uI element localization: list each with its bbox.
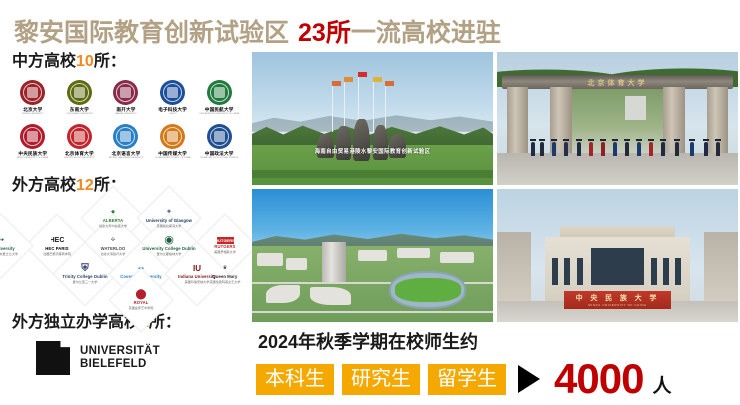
flagpole bbox=[373, 77, 374, 132]
building-window bbox=[675, 258, 681, 285]
list-item-sublabel: 澳大利亚中央昆士兰大学 bbox=[0, 253, 18, 257]
flagpole bbox=[385, 81, 386, 132]
tag-undergraduate[interactable]: 本科生 bbox=[256, 364, 334, 395]
student-count-number: 4000 bbox=[554, 358, 643, 400]
bielefeld-line2: BIELEFELD bbox=[80, 358, 160, 371]
university-logo-icon: ♛ bbox=[219, 263, 232, 274]
university-logo-icon: RUTGERS bbox=[217, 237, 234, 244]
list-item-sublabel: NANKAI UNIVERSITY bbox=[115, 112, 137, 115]
university-seal-icon bbox=[67, 124, 92, 149]
university-seal-icon bbox=[160, 80, 185, 105]
graduate-figure bbox=[675, 142, 679, 156]
title-tail-text: 一流高校进驻 bbox=[351, 13, 501, 49]
gate-inscription: 北京体育大学 bbox=[497, 78, 738, 88]
university-seal-icon bbox=[113, 124, 138, 149]
university-logo-icon: ✣ bbox=[107, 235, 120, 246]
road-layer bbox=[497, 153, 738, 185]
university-seal-icon bbox=[113, 80, 138, 105]
bielefeld-logo[interactable]: UNIVERSITÄT BIELEFELD bbox=[36, 341, 248, 375]
building-window bbox=[577, 258, 583, 285]
list-item[interactable]: 东南大学 SOUTHEAST UNIVERSITY bbox=[57, 78, 103, 122]
graduate-figure bbox=[649, 142, 653, 156]
section-foreign-count: 12 bbox=[76, 177, 94, 194]
list-item-sublabel: BEIJING LANGUAGE UNIVERSITY bbox=[109, 156, 143, 159]
list-item[interactable]: 中国传媒大学 COMMUNICATION UNIV. OF CHINA bbox=[150, 122, 196, 166]
university-seal-icon bbox=[207, 80, 232, 105]
building-window bbox=[564, 258, 570, 285]
campus-building bbox=[440, 252, 474, 264]
list-item-sublabel: UESTC bbox=[169, 112, 176, 115]
stadium-field bbox=[395, 278, 461, 302]
section-chinese-label-pre: 中方高校 bbox=[12, 53, 76, 70]
graduate-figure bbox=[661, 142, 665, 156]
graduate-figure bbox=[716, 142, 720, 156]
gate-pillar bbox=[663, 87, 685, 156]
university-logo-icon: ●● bbox=[0, 235, 8, 246]
chinese-logo-row-1: 北京大学 PEKING UNIVERSITY 东南大学 SOUTHEAST UN… bbox=[10, 78, 242, 122]
flag-icon bbox=[385, 81, 394, 86]
university-seal-icon bbox=[20, 124, 45, 149]
stats-banner: 2024年秋季学期在校师生约 本科生 研究生 留学生 4000 人 bbox=[252, 326, 738, 402]
list-item-sublabel: SOUTHEAST UNIVERSITY bbox=[66, 112, 93, 115]
photo-minzu-building[interactable]: 中 央 民 族 大 学 MINZU UNIVERSITY OF CHINA bbox=[497, 189, 738, 322]
list-item-sublabel: 英国皇家艺术学院 bbox=[129, 307, 154, 311]
flag-icon bbox=[332, 81, 341, 86]
flag-icon bbox=[373, 77, 382, 82]
list-item[interactable]: ⬤ ROYAL 英国皇家艺术学院 bbox=[118, 277, 164, 323]
photo-aerial-campus[interactable] bbox=[252, 189, 493, 322]
list-item-sublabel: 英国伦敦玛丽女王大学 bbox=[210, 281, 241, 285]
background-building bbox=[625, 96, 647, 120]
building-glass-panel bbox=[591, 248, 644, 285]
building-window bbox=[552, 258, 558, 285]
list-item-sublabel: BEIJING SPORT UNIVERSITY bbox=[64, 156, 94, 159]
campus-tower bbox=[322, 242, 346, 282]
list-item[interactable]: 北京大学 PEKING UNIVERSITY bbox=[10, 78, 56, 122]
left-column: 中方高校10所： 北京大学 PEKING UNIVERSITY 东南大学 SOU… bbox=[0, 52, 248, 405]
graduate-figure bbox=[704, 142, 708, 156]
graduate-figure bbox=[625, 142, 629, 156]
photo-monument[interactable]: 海南自由贸易港陵水黎安国际教育创新试验区 bbox=[252, 52, 493, 185]
graduate-figure bbox=[577, 142, 581, 156]
play-triangle-icon bbox=[518, 365, 540, 393]
campus-building bbox=[257, 253, 284, 266]
list-item-sublabel: CHINA UNIV. OF POLITICAL SCIENCE bbox=[200, 156, 238, 159]
flag-red-icon bbox=[358, 72, 367, 77]
list-item-sublabel: CIVIL AVIATION UNIVERSITY OF CHINA bbox=[199, 112, 239, 115]
campus-building bbox=[310, 287, 351, 304]
university-logo-icon: ⬤ bbox=[135, 289, 148, 300]
graduate-figure bbox=[601, 142, 605, 156]
list-item[interactable]: ⛨ Trinity College Dublin 爱尔兰圣三一大学 bbox=[62, 251, 108, 297]
campus-building bbox=[358, 250, 387, 261]
university-logo-icon: ❖ bbox=[163, 207, 176, 218]
infographic-slide: 黎安国际教育创新试验区 23所 一流高校进驻 中方高校10所： 北京大学 PEK… bbox=[0, 0, 740, 405]
graduate-figure bbox=[589, 142, 593, 156]
list-item-sublabel: 爱尔兰圣三一大学 bbox=[73, 281, 98, 285]
graduate-figure bbox=[637, 142, 641, 156]
tag-international[interactable]: 留学生 bbox=[428, 364, 506, 395]
stadium bbox=[389, 271, 466, 308]
list-item[interactable]: 南开大学 NANKAI UNIVERSITY bbox=[103, 78, 149, 122]
university-seal-icon bbox=[67, 80, 92, 105]
university-seal-icon bbox=[20, 80, 45, 105]
section-chinese-count: 10 bbox=[76, 53, 94, 70]
flagpole bbox=[332, 81, 333, 132]
banner-row: 本科生 研究生 留学生 4000 人 bbox=[256, 358, 738, 400]
graduate-figure bbox=[552, 142, 556, 156]
list-item[interactable]: ♛ Queen Mary 英国伦敦玛丽女王大学 bbox=[202, 251, 248, 297]
university-logo-icon: ◆ bbox=[107, 207, 120, 218]
section-header-foreign: 外方高校12所： bbox=[12, 176, 248, 196]
list-item-sublabel: MINZU UNIVERSITY OF CHINA bbox=[17, 156, 48, 159]
building-window bbox=[651, 258, 657, 285]
sign-english-text: MINZU UNIVERSITY OF CHINA bbox=[588, 303, 646, 307]
hedge-layer bbox=[252, 170, 493, 178]
list-item[interactable]: 电子科技大学 UESTC bbox=[150, 78, 196, 122]
section-header-chinese: 中方高校10所： bbox=[12, 52, 248, 72]
side-building-left bbox=[497, 232, 531, 301]
list-item-sublabel: PEKING UNIVERSITY bbox=[22, 112, 44, 115]
gate-pillar bbox=[507, 87, 529, 156]
building-name-sign: 中 央 民 族 大 学 MINZU UNIVERSITY OF CHINA bbox=[564, 291, 670, 308]
campus-building bbox=[286, 258, 308, 270]
list-item-sublabel: COMMUNICATION UNIV. OF CHINA bbox=[155, 156, 191, 159]
graduate-figure bbox=[531, 142, 535, 156]
road-line bbox=[252, 311, 493, 313]
campus-building bbox=[397, 248, 431, 259]
title-main-text: 黎安国际教育创新试验区 bbox=[14, 13, 289, 49]
section-chinese-label-post: 所： bbox=[94, 53, 126, 70]
flagpole bbox=[344, 77, 345, 132]
university-logo-icon: ⛨ bbox=[79, 263, 92, 274]
photo-graduation-gate[interactable]: 北京体育大学 bbox=[497, 52, 738, 185]
tag-graduate[interactable]: 研究生 bbox=[342, 364, 420, 395]
sign-chinese-text: 中 央 民 族 大 学 bbox=[576, 293, 660, 303]
page-title: 黎安国际教育创新试验区 23所 一流高校进驻 bbox=[14, 14, 734, 48]
foreign-university-hex-grid: ◆ ALBERTA 加拿大阿尔伯塔大学 ❖ University of Glas… bbox=[6, 201, 246, 297]
bielefeld-label: UNIVERSITÄT BIELEFELD bbox=[80, 345, 160, 371]
monument-caption-text: 海南自由贸易港陵水黎安国际教育创新试验区 bbox=[315, 147, 431, 155]
list-item[interactable]: 中国民航大学 CIVIL AVIATION UNIVERSITY OF CHIN… bbox=[196, 78, 242, 122]
university-seal-icon bbox=[207, 124, 232, 149]
list-item[interactable]: 北京体育大学 BEIJING SPORT UNIVERSITY bbox=[57, 122, 103, 166]
photo-grid: 海南自由贸易港陵水黎安国际教育创新试验区 北京体育大学 bbox=[252, 52, 738, 324]
university-logo-icon: ◉ bbox=[163, 235, 176, 246]
chinese-logo-row-2: 中央民族大学 MINZU UNIVERSITY OF CHINA 北京体育大学 … bbox=[10, 122, 242, 166]
chinese-university-logo-grid: 北京大学 PEKING UNIVERSITY 东南大学 SOUTHEAST UN… bbox=[10, 78, 242, 166]
list-item[interactable]: 中国政法大学 CHINA UNIV. OF POLITICAL SCIENCE bbox=[196, 122, 242, 166]
banner-headline: 2024年秋季学期在校师生约 bbox=[258, 328, 738, 354]
list-item[interactable]: 北京语言大学 BEIJING LANGUAGE UNIVERSITY bbox=[103, 122, 149, 166]
graduate-figure bbox=[613, 142, 617, 156]
graduate-figure bbox=[564, 142, 568, 156]
flag-icon bbox=[344, 77, 353, 82]
title-count-text: 23所 bbox=[298, 13, 351, 49]
section-foreign-label-pre: 外方高校 bbox=[12, 177, 76, 194]
student-count-unit: 人 bbox=[652, 371, 671, 398]
list-item[interactable]: 中央民族大学 MINZU UNIVERSITY OF CHINA bbox=[10, 122, 56, 166]
building-window bbox=[663, 258, 669, 285]
bielefeld-mark-icon bbox=[36, 341, 70, 375]
monument-caption: 海南自由贸易港陵水黎安国际教育创新试验区 bbox=[276, 147, 469, 156]
graduate-figure bbox=[690, 142, 694, 156]
graduate-figure bbox=[540, 142, 544, 156]
side-building-right bbox=[704, 232, 738, 301]
university-seal-icon bbox=[160, 124, 185, 149]
bielefeld-line1: UNIVERSITÄT bbox=[80, 345, 160, 358]
list-item[interactable]: ●● CQUniversity 澳大利亚中央昆士兰大学 bbox=[0, 223, 24, 269]
university-logo-icon: HEC bbox=[51, 235, 64, 246]
